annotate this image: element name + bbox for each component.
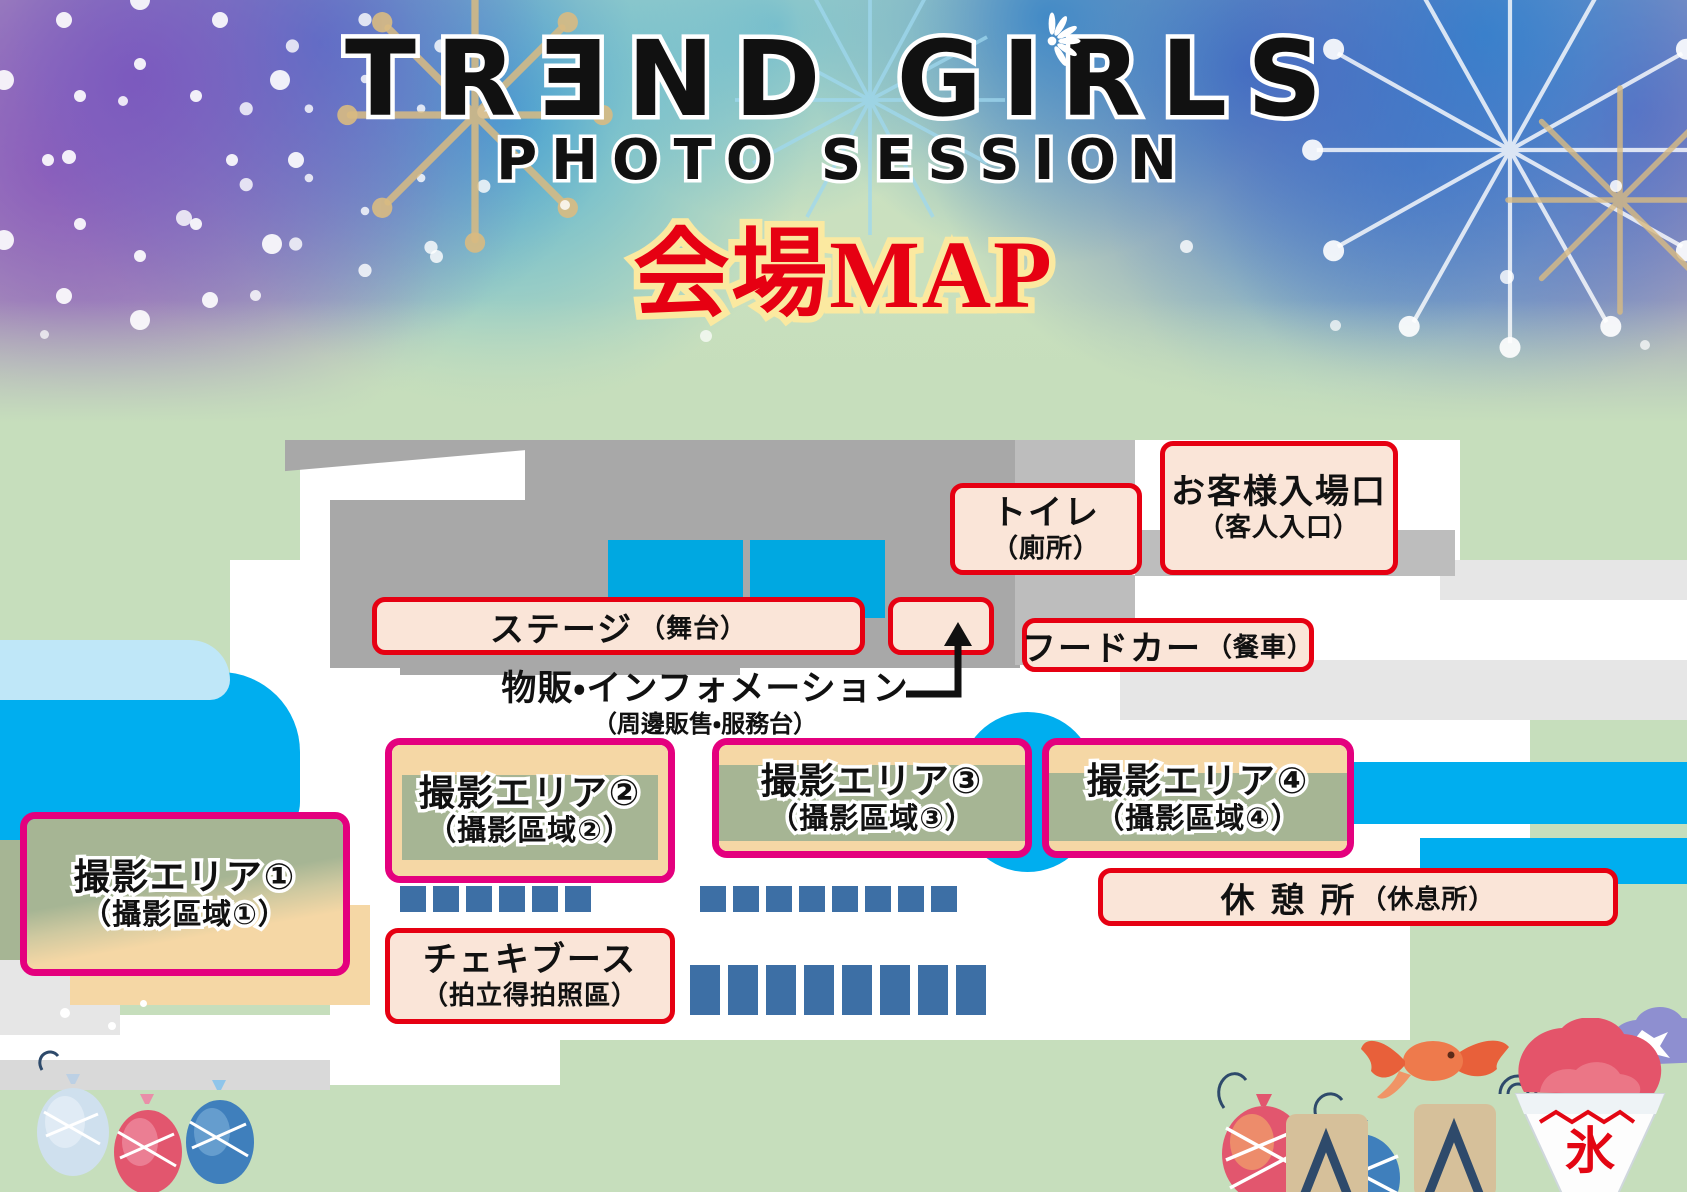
label-rest-zh: （休息所） — [1360, 879, 1495, 916]
page-title: TRƎND GIRLS — [0, 18, 1687, 140]
sparkle-dot — [60, 1008, 70, 1018]
photo-area-2-zh: （攝影區域②） — [427, 814, 633, 847]
label-toilet[interactable]: トイレ （廁所） — [950, 483, 1142, 575]
firework-sparkle-icon — [1023, 12, 1081, 70]
up-arrow-icon — [900, 616, 990, 716]
label-info-jp: 物販・インフォメーション — [470, 670, 940, 709]
photo-area-3[interactable]: 撮影エリア③ （攝影區域③） — [712, 738, 1032, 858]
label-entrance-zh: （客人入口） — [1198, 513, 1360, 543]
label-toilet-zh: （廁所） — [992, 534, 1100, 564]
label-entrance[interactable]: お客様入場口 （客人入口） — [1160, 441, 1398, 575]
label-stage-zh: （舞台） — [639, 608, 747, 645]
booth-row-center — [700, 886, 957, 912]
photo-area-4-jp: 撮影エリア④ — [1087, 761, 1309, 802]
label-cheki-jp: チェキブース — [423, 941, 637, 980]
label-stage[interactable]: ステージ （舞台） — [372, 597, 865, 655]
photo-area-2[interactable]: 撮影エリア② （攝影區域②） — [385, 738, 675, 883]
sparkle-dot — [140, 1000, 147, 1007]
map-path-grey-right2 — [1440, 560, 1687, 600]
label-cheki-booth[interactable]: チェキブース （拍立得拍照區） — [385, 928, 675, 1024]
label-cheki-zh: （拍立得拍照區） — [422, 981, 638, 1011]
label-info-zh: （周邊販售・服務台） — [470, 711, 940, 738]
label-food-car[interactable]: フードカー （餐車） — [1022, 618, 1314, 672]
photo-area-1-zh: （攝影區域①） — [82, 898, 288, 931]
label-rest-jp: 休 憩 所 — [1221, 873, 1357, 922]
booth-row-bottom — [690, 965, 986, 1015]
photo-area-4[interactable]: 撮影エリア④ （攝影區域④） — [1042, 738, 1354, 858]
geta-sandal-icon — [1272, 1108, 1402, 1192]
pond-water-left-pale — [0, 640, 230, 700]
photo-area-3-zh: （攝影區域③） — [769, 802, 975, 835]
label-food-car-jp: フードカー — [1022, 621, 1202, 670]
map-title: 会場MAP — [0, 196, 1687, 335]
label-entrance-jp: お客様入場口 — [1171, 473, 1387, 512]
photo-area-1[interactable]: 撮影エリア① （攝影區域①） — [20, 812, 350, 976]
booth-row-left — [400, 886, 591, 912]
pond-water-right-strip — [1345, 762, 1687, 824]
photo-area-3-jp: 撮影エリア③ — [761, 761, 983, 802]
label-food-car-zh: （餐車） — [1206, 627, 1314, 664]
page-subtitle: PHOTO SESSION — [0, 128, 1687, 193]
shaved-ice-icon: 氷 — [1480, 1018, 1687, 1192]
sparkle-dot — [108, 1022, 116, 1030]
label-stage-jp: ステージ — [490, 602, 633, 651]
photo-area-4-zh: （攝影區域④） — [1095, 802, 1301, 835]
label-rest-area[interactable]: 休 憩 所 （休息所） — [1098, 868, 1618, 926]
svg-text:氷: 氷 — [1565, 1123, 1616, 1179]
venue-map-poster: TRƎND GIRLS PHOTO SESSION 会場MAP トイレ （廁所）… — [0, 0, 1687, 1192]
water-balloon-icon — [168, 1066, 278, 1192]
photo-area-2-jp: 撮影エリア② — [419, 773, 641, 814]
photo-area-1-jp: 撮影エリア① — [74, 857, 296, 898]
label-info[interactable]: 物販・インフォメーション （周邊販售・服務台） — [470, 670, 940, 738]
label-toilet-jp: トイレ — [992, 494, 1100, 533]
